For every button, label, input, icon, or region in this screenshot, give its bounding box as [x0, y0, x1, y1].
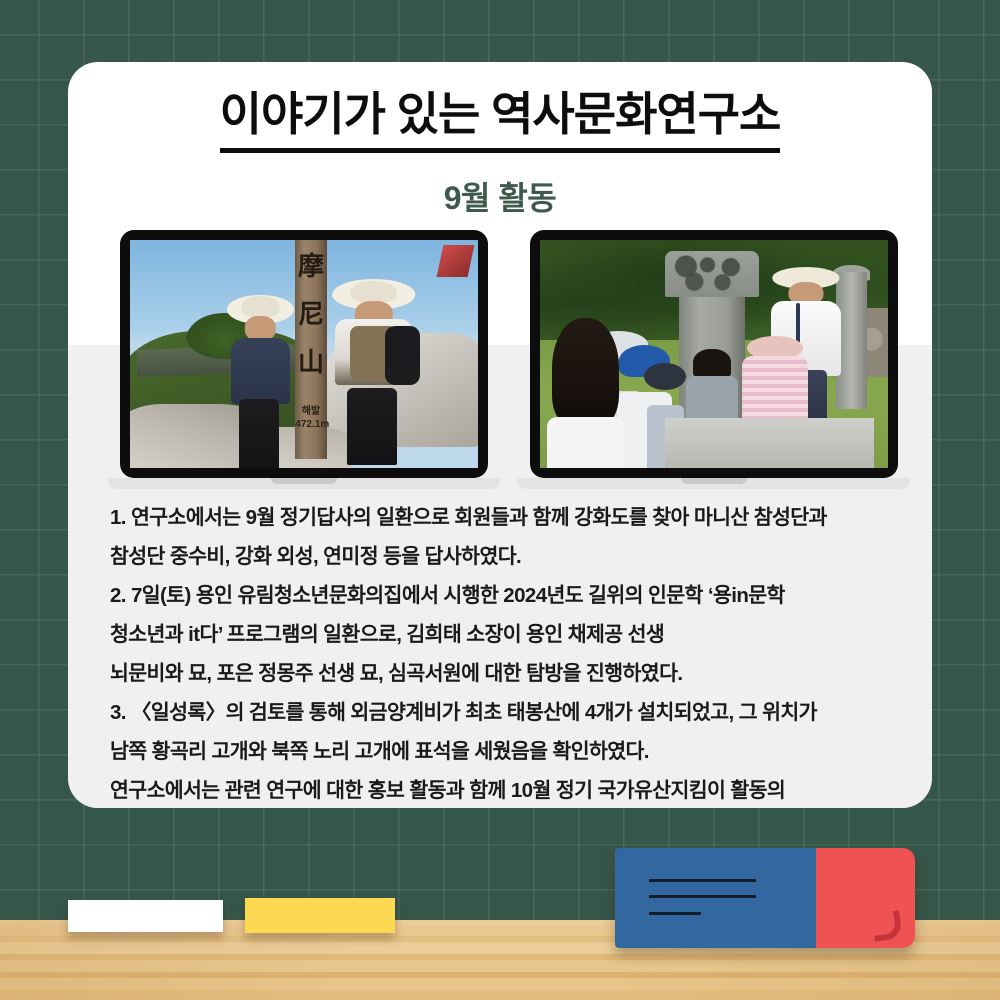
laptop-left: 摩 尼 山 해발 472.1m — [120, 230, 488, 489]
photo-hiker-left-shirt — [231, 338, 289, 404]
activity-line: 남쪽 황곡리 고개와 북쪽 노리 고개에 표석을 세웠음을 확인하였다. — [110, 732, 896, 771]
poster-canvas: 이야기가 있는 역사문화연구소 9월 활동 — [0, 0, 1000, 1000]
laptop-right-lid — [530, 230, 898, 478]
marker-char-3: 山 — [295, 349, 326, 375]
photo-student-center-hair — [693, 349, 731, 377]
photo-stele-carved-pattern — [671, 255, 754, 293]
marker-char-2: 尼 — [295, 301, 326, 327]
photo-hiker-left — [227, 295, 293, 468]
white-paper-note — [68, 900, 223, 932]
notebook-blue-cover — [615, 848, 816, 948]
marker-elevation-value: 472.1m — [295, 419, 326, 430]
photo-summit-marker-pole: 摩 尼 山 해발 472.1m — [295, 240, 326, 459]
notebook-rule-line — [649, 912, 701, 915]
photo-hiker-left-pants — [239, 399, 279, 468]
blue-red-notebook — [615, 848, 915, 948]
manisan-summit-photo: 摩 尼 山 해발 472.1m — [130, 240, 478, 468]
photo-hiker-right — [332, 279, 416, 461]
photo-hiker-left-hat-crown — [242, 296, 279, 317]
photo-stone-slab-foreground — [665, 418, 874, 468]
laptop-right — [530, 230, 898, 489]
notebook-red-section — [816, 848, 915, 948]
yellow-paper-note — [245, 898, 395, 933]
page-subtitle: 9월 활동 — [68, 173, 932, 219]
page-title: 이야기가 있는 역사문화연구소 — [220, 86, 781, 153]
laptop-right-notch — [681, 478, 747, 484]
title-container: 이야기가 있는 역사문화연구소 — [68, 86, 932, 153]
activity-line: 참성단 중수비, 강화 외성, 연미정 등을 답사하였다. — [110, 537, 896, 576]
activity-line: 2. 7일(토) 용인 유림청소년문화의집에서 시행한 2024년도 길위의 인… — [110, 576, 896, 615]
notebook-rule-line — [649, 879, 756, 882]
activity-line: 1. 연구소에서는 9월 정기답사의 일환으로 회원들과 함께 강화도를 찾아 … — [110, 498, 896, 537]
marker-char-1: 摩 — [295, 253, 326, 279]
photo-student-long-hair-hair — [552, 318, 619, 426]
photo-flag — [436, 245, 474, 277]
activity-line: 청소년과 it다’ 프로그램의 일환으로, 김희태 소장이 용인 채제공 선생 — [110, 615, 896, 654]
photo-student-long-hair-shirt — [547, 417, 624, 468]
photo-hiker-right-pants — [347, 388, 397, 465]
marker-elevation-label: 해발 — [295, 402, 326, 417]
laptop-left-base — [108, 478, 500, 489]
laptop-left-screen: 摩 尼 山 해발 472.1m — [130, 240, 478, 468]
activity-line: 3. 〈일성록〉의 검토를 통해 외금양계비가 최초 태봉산에 4개가 설치되었… — [110, 693, 896, 732]
simgok-seowon-tour-photo — [540, 240, 888, 468]
photo-hiker-right-hat-crown — [350, 281, 397, 303]
photo-student-long-hair — [547, 318, 624, 468]
laptop-left-notch — [271, 478, 337, 484]
photo-hiker-right-backpack — [385, 326, 420, 384]
photo-student-dark-hat-hat — [644, 363, 686, 390]
laptop-left-lid: 摩 尼 山 해발 472.1m — [120, 230, 488, 478]
activity-line: 뇌문비와 묘, 포은 정몽주 선생 묘, 심곡서원에 대한 탐방을 진행하였다. — [110, 654, 896, 693]
activity-line: 연구소에서는 관련 연구에 대한 홍보 활동과 함께 10월 정기 국가유산지킴… — [110, 771, 896, 808]
laptop-right-base — [518, 478, 910, 489]
laptop-right-screen — [540, 240, 888, 468]
notebook-rule-line — [649, 895, 756, 898]
content-card: 이야기가 있는 역사문화연구소 9월 활동 — [68, 62, 932, 808]
photo-stone-stele-cap — [665, 251, 759, 297]
activity-report-text: 1. 연구소에서는 9월 정기답사의 일환으로 회원들과 함께 강화도를 찾아 … — [110, 498, 896, 808]
